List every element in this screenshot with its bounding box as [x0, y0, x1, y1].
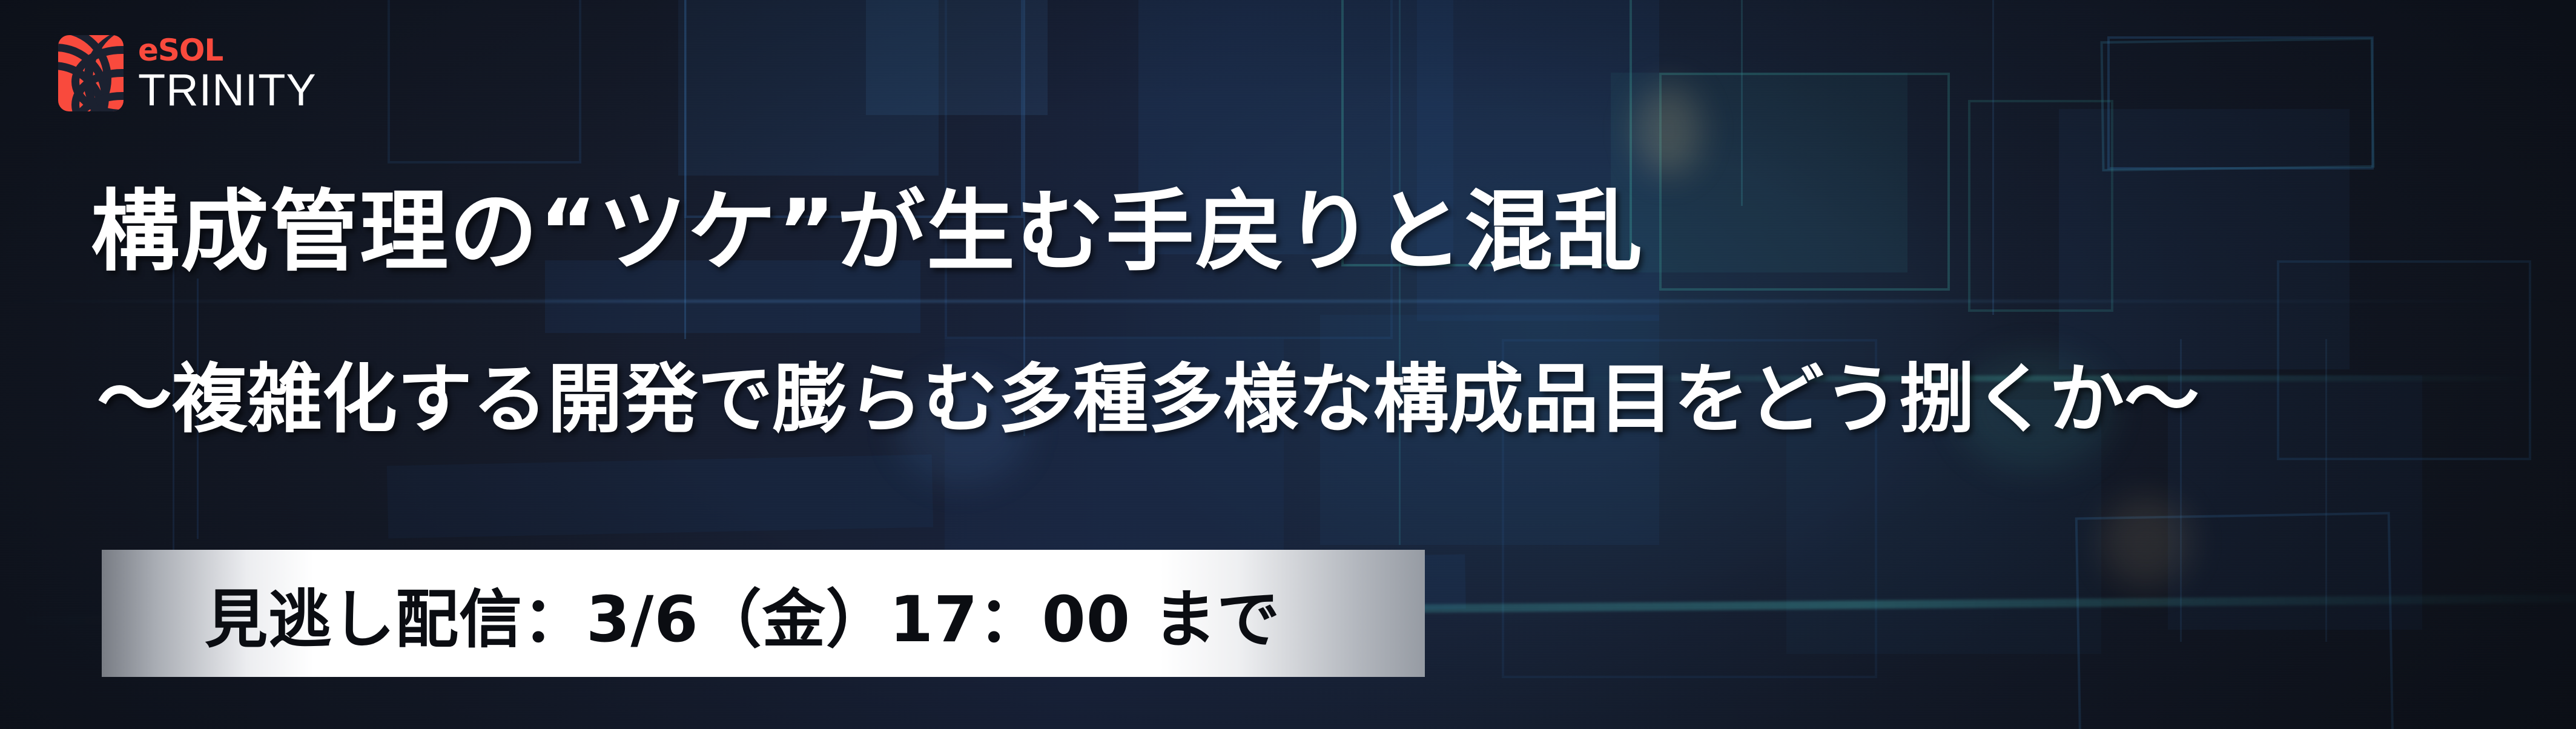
page-title: 構成管理の“ツケ”が生む手戻りと混乱 [91, 188, 1643, 276]
page-subtitle: 〜複雑化する開発で膨らむ多種多様な構成品目をどう捌くか〜 [97, 362, 2199, 437]
esol-wave-mark-icon [58, 35, 124, 111]
esol-trinity-logo: eSOL TRINITY [58, 35, 317, 113]
logo-brand-esol: eSOL [138, 35, 317, 65]
logo-wordmark: eSOL TRINITY [138, 35, 317, 113]
webinar-banner: eSOL TRINITY 構成管理の“ツケ”が生む手戻りと混乱 〜複雑化する開発… [0, 0, 2576, 729]
availability-text: 見逃し配信：3/6（金）17：00 まで [205, 568, 1280, 659]
availability-banner: 見逃し配信：3/6（金）17：00 まで [102, 550, 1425, 677]
logo-product-trinity: TRINITY [138, 68, 317, 113]
